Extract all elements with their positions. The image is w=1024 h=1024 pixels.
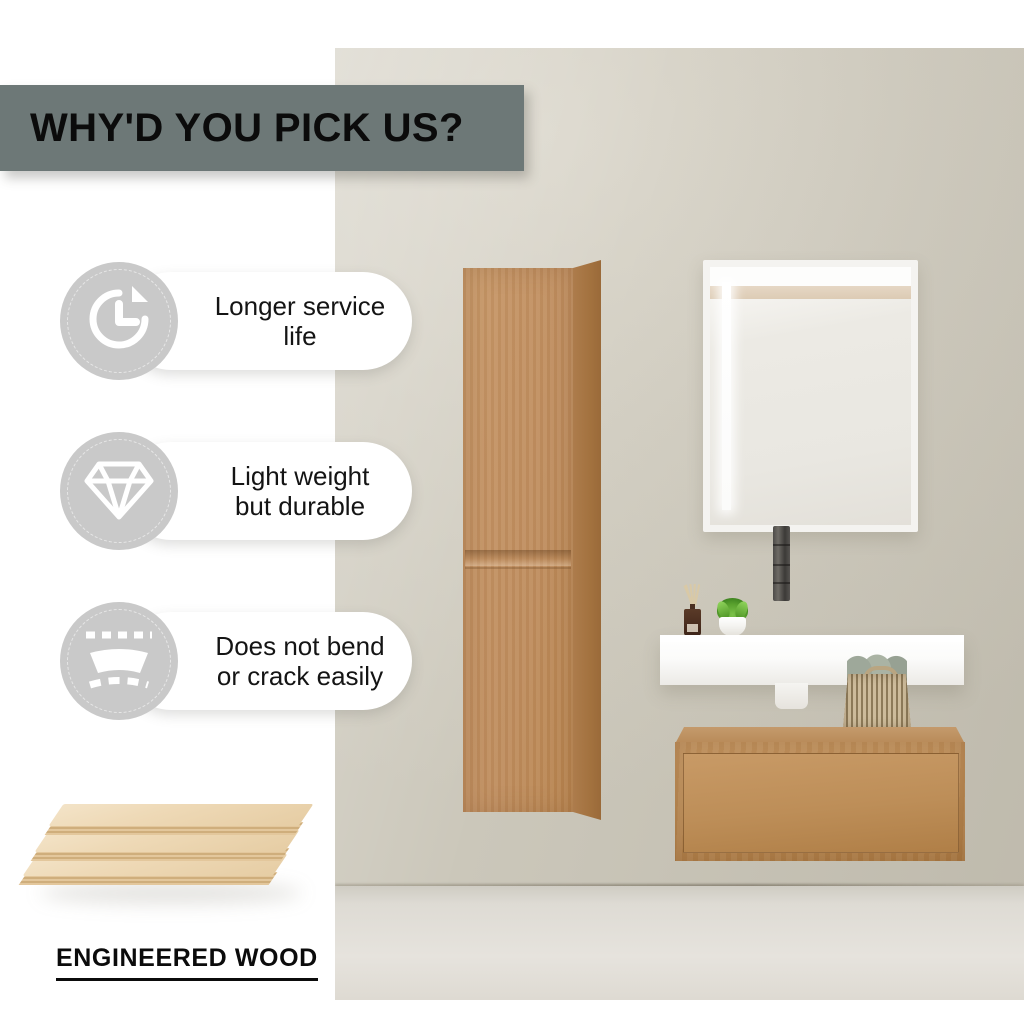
basket-body: [843, 674, 911, 728]
feature-icon-badge: [60, 262, 178, 380]
tall-cabinet-handle-groove: [465, 550, 571, 566]
diffuser-label: [687, 624, 698, 632]
floor-surface: [335, 886, 1024, 1000]
feature-label-line1: Does not bend: [215, 631, 384, 661]
mirror-reflection-band: [710, 286, 911, 299]
vanity-body: [675, 742, 965, 861]
mirror-top-highlight: [710, 267, 911, 286]
feature-label: Does not bend or crack easily: [194, 631, 412, 691]
faucet: [773, 526, 790, 601]
feature-label-line2: life: [283, 321, 316, 351]
sink-drain-pipe: [775, 683, 808, 709]
reed-diffuser: [684, 596, 701, 636]
led-mirror: [703, 260, 918, 532]
basin-rim: [660, 635, 964, 642]
feature-icon-badge: [60, 602, 178, 720]
feature-label-line1: Light weight: [231, 461, 370, 491]
material-label: ENGINEERED WOOD: [56, 944, 318, 981]
feature-label-line1: Longer service: [215, 291, 386, 321]
feature-row-does-not-bend-or-crack: Does not bend or crack easily: [60, 602, 412, 720]
feature-icon-badge: [60, 432, 178, 550]
plywood-shadow: [40, 882, 302, 904]
mirror-led-strip: [722, 282, 731, 510]
sink-basin: [660, 635, 964, 685]
feature-label-line2: but durable: [235, 491, 365, 521]
feature-row-longer-service-life: Longer service life: [60, 262, 412, 380]
product-photo: [335, 48, 1024, 1000]
page-title: WHY'D YOU PICK US?: [30, 108, 464, 148]
feature-label: Longer service life: [194, 291, 412, 351]
feature-row-light-weight-but-durable: Light weight but durable: [60, 432, 412, 550]
woven-basket-with-towels: [843, 670, 911, 728]
tall-side-cabinet: [463, 260, 601, 812]
diffuser-bottle: [684, 609, 701, 636]
infographic-canvas: WHY'D YOU PICK US? Longer service life L…: [0, 0, 1024, 1024]
mirror-glass: [710, 267, 911, 525]
feature-label: Light weight but durable: [194, 461, 412, 521]
plywood-board: [56, 804, 306, 834]
tall-cabinet-side-panel: [573, 260, 601, 820]
bend-resistance-icon: [80, 626, 158, 697]
clock-restore-icon: [82, 282, 156, 361]
tall-cabinet-door-seam: [465, 567, 571, 569]
headline-banner: WHY'D YOU PICK US?: [0, 85, 524, 171]
feature-label-line2: or crack easily: [217, 661, 383, 691]
potted-succulent: [715, 597, 750, 636]
vanity-drawer-cabinet: [675, 727, 965, 863]
ceramic-pot: [719, 617, 746, 636]
tall-cabinet-front: [463, 268, 573, 812]
plywood-board-stack: [30, 790, 320, 915]
vanity-drawer-front: [683, 753, 959, 853]
diamond-icon: [83, 454, 155, 529]
